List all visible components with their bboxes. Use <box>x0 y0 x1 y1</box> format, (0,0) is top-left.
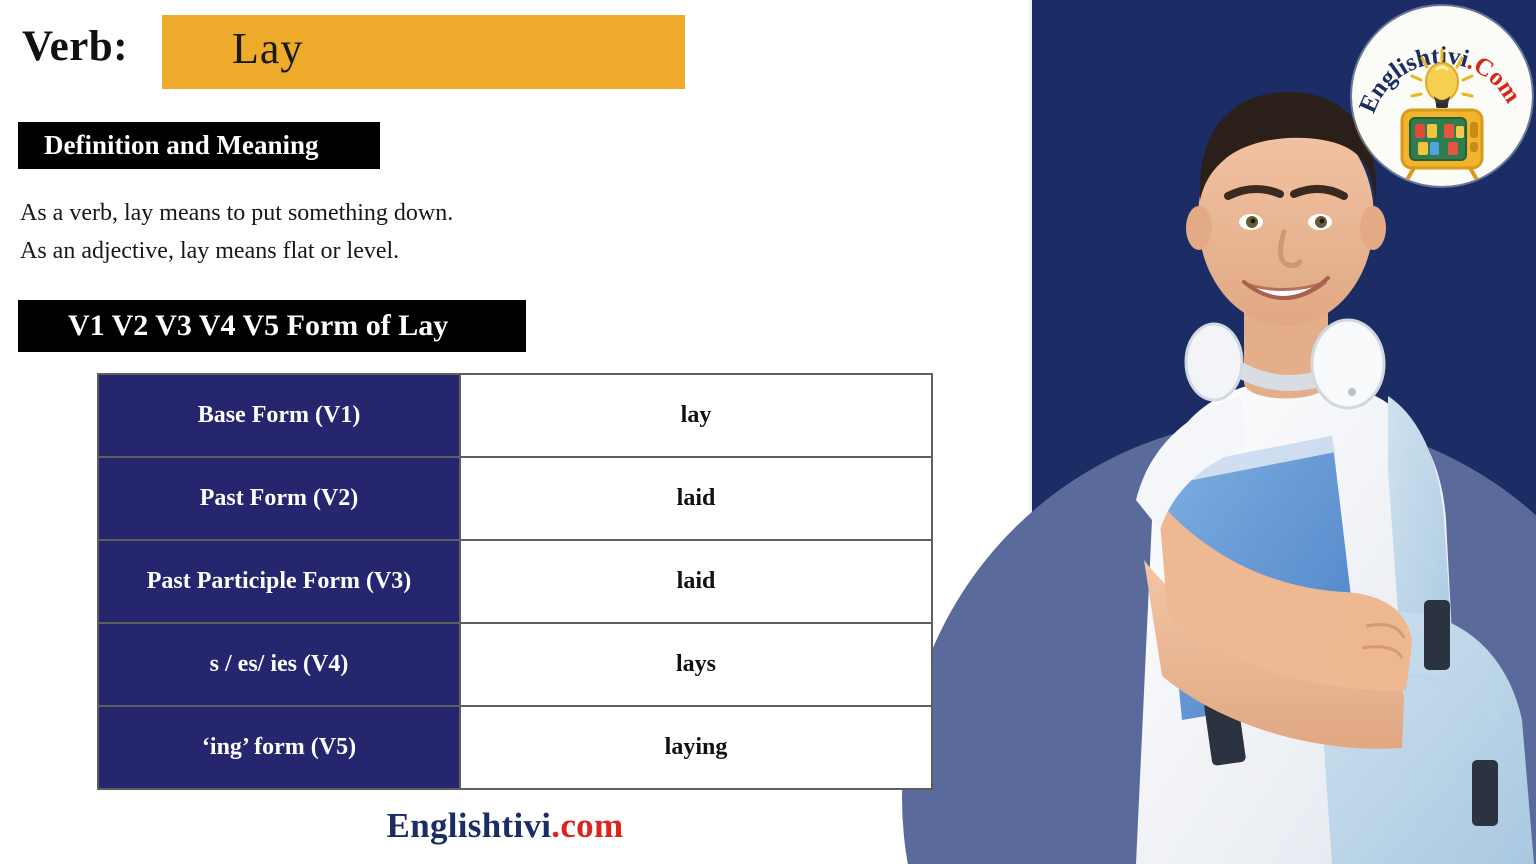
table-row: s / es/ ies (V4) lays <box>98 623 932 706</box>
forms-banner: V1 V2 V3 V4 V5 Form of Lay <box>18 300 526 352</box>
table-row: Base Form (V1) lay <box>98 374 932 457</box>
form-label-v3: Past Participle Form (V3) <box>98 540 460 623</box>
headphone-cup-left <box>1186 324 1242 400</box>
form-value-v2: laid <box>460 457 932 540</box>
footer-brand: Englishtivi.com <box>0 806 1010 846</box>
form-value-v1: lay <box>460 374 932 457</box>
headphone-cup-right <box>1312 320 1384 408</box>
form-value-v5: laying <box>460 706 932 789</box>
forms-banner-label: V1 V2 V3 V4 V5 Form of Lay <box>68 309 448 343</box>
table-row: Past Form (V2) laid <box>98 457 932 540</box>
form-label-v2: Past Form (V2) <box>98 457 460 540</box>
strap-buckle-bottom <box>1472 760 1498 826</box>
infographic-page: Englishtivi.Com <box>0 0 1536 864</box>
form-label-v1: Base Form (V1) <box>98 374 460 457</box>
table-row: ‘ing’ form (V5) laying <box>98 706 932 789</box>
definition-text: As a verb, lay means to put something do… <box>20 194 640 270</box>
definition-line-1: As a verb, lay means to put something do… <box>20 194 640 232</box>
verb-forms-body: Base Form (V1) lay Past Form (V2) laid P… <box>98 374 932 789</box>
table-row: Past Participle Form (V3) laid <box>98 540 932 623</box>
definition-banner-label: Definition and Meaning <box>44 130 319 161</box>
footer-brand-tld: .com <box>551 806 623 845</box>
verb-word: Lay <box>232 23 303 74</box>
lightbulb-icon <box>1426 63 1458 101</box>
verb-forms-table: Base Form (V1) lay Past Form (V2) laid P… <box>97 373 933 790</box>
form-label-v5: ‘ing’ form (V5) <box>98 706 460 789</box>
logo-badge[interactable]: Englishtivi.Com <box>1352 6 1532 186</box>
footer-brand-name: Englishtivi <box>387 806 552 845</box>
logo-artwork <box>1352 6 1532 186</box>
strap-buckle-top <box>1424 600 1450 670</box>
definition-line-2: As an adjective, lay means flat or level… <box>20 232 640 270</box>
form-value-v4: lays <box>460 623 932 706</box>
verb-label: Verb: <box>22 22 128 71</box>
form-value-v3: laid <box>460 540 932 623</box>
definition-banner: Definition and Meaning <box>18 122 380 169</box>
form-label-v4: s / es/ ies (V4) <box>98 623 460 706</box>
